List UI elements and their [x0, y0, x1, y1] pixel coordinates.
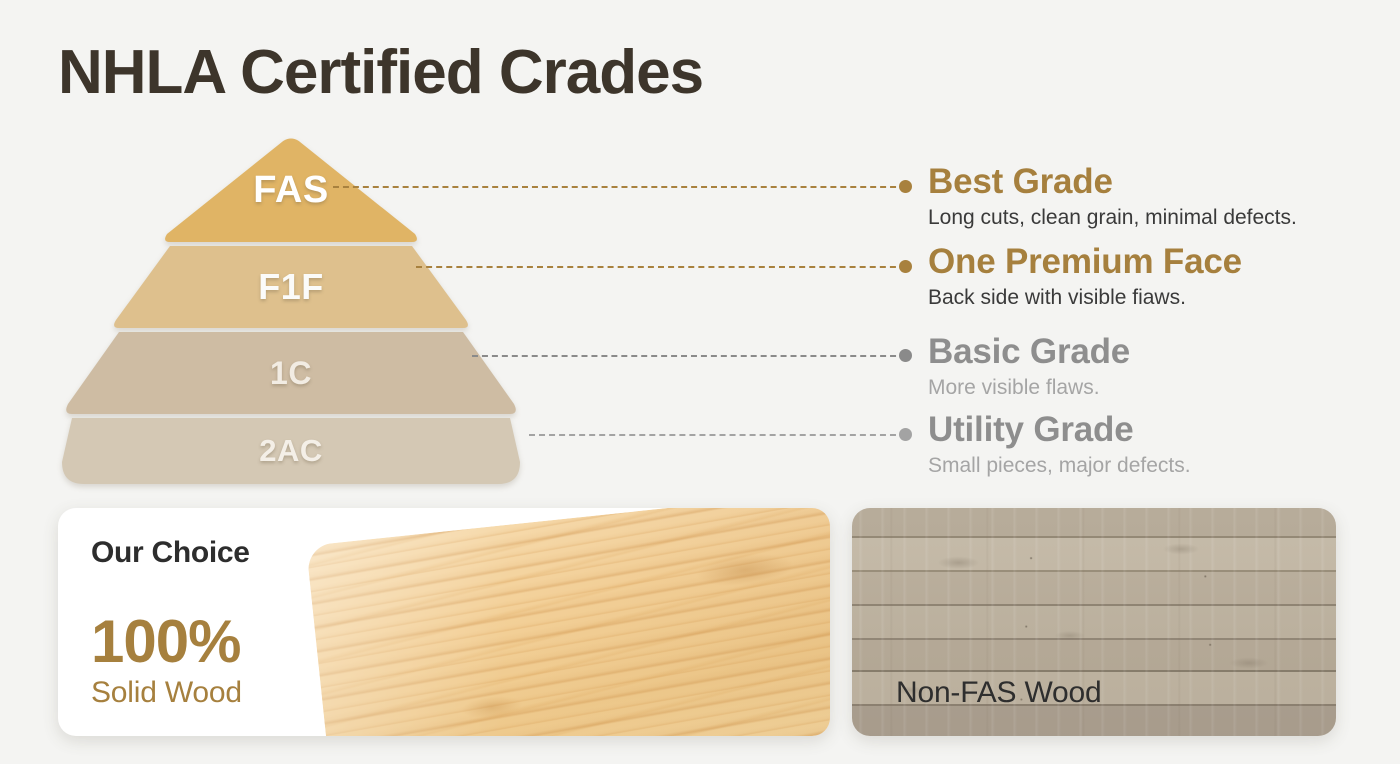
pyramid-tier-1c[interactable]: 1C	[62, 332, 520, 414]
connector-dot-2ac	[899, 428, 912, 441]
pyramid-tier-fas[interactable]: FAS	[62, 138, 520, 242]
non-fas-label: Non-FAS Wood	[896, 676, 1101, 710]
pyramid-tier-2ac[interactable]: 2AC	[62, 418, 520, 484]
page-title: NHLA Certified Crades	[58, 40, 703, 105]
grade-label-subtitle: Small pieces, major defects.	[928, 453, 1191, 479]
percent-caption: Solid Wood	[91, 676, 242, 709]
solid-wood-stat: 100% Solid Wood	[91, 612, 242, 709]
grade-label-subtitle: More visible flaws.	[928, 375, 1130, 401]
non-fas-card[interactable]: Non-FAS Wood	[852, 508, 1336, 736]
grade-label-subtitle: Long cuts, clean grain, minimal defects.	[928, 205, 1297, 231]
grade-label-title: One Premium Face	[928, 243, 1242, 282]
our-choice-card[interactable]: Our Choice 100% Solid Wood	[58, 508, 830, 736]
grade-label-best: Best Grade Long cuts, clean grain, minim…	[928, 163, 1297, 231]
pyramid-tier-f1f[interactable]: F1F	[62, 246, 520, 328]
grade-label-title: Basic Grade	[928, 333, 1130, 372]
connector-dot-1c	[899, 349, 912, 362]
grade-label-utility: Utility Grade Small pieces, major defect…	[928, 411, 1191, 479]
grade-label-title: Utility Grade	[928, 411, 1191, 450]
connector-dot-fas	[899, 180, 912, 193]
connector-line-f1f	[416, 266, 906, 268]
pyramid-tier-label: F1F	[258, 266, 324, 308]
grade-label-title: Best Grade	[928, 163, 1297, 202]
pine-board-image	[306, 508, 830, 736]
grade-label-subtitle: Back side with visible fiaws.	[928, 285, 1242, 311]
connector-line-2ac	[529, 434, 906, 436]
percent-value: 100%	[91, 612, 242, 672]
our-choice-heading: Our Choice	[91, 536, 250, 570]
pine-board-shading	[306, 508, 830, 736]
grade-label-basic: Basic Grade More visible flaws.	[928, 333, 1130, 401]
pyramid-tier-label: 2AC	[259, 433, 323, 469]
nhla-grade-pyramid: FAS F1F 1C 2AC	[62, 138, 520, 484]
pyramid-tier-label: FAS	[253, 169, 328, 212]
our-choice-heading-wrap: Our Choice	[91, 536, 250, 570]
connector-line-fas	[333, 186, 906, 188]
connector-line-1c	[472, 355, 906, 357]
connector-dot-f1f	[899, 260, 912, 273]
grade-label-one-premium-face: One Premium Face Back side with visible …	[928, 243, 1242, 311]
pyramid-tier-label: 1C	[270, 355, 312, 392]
